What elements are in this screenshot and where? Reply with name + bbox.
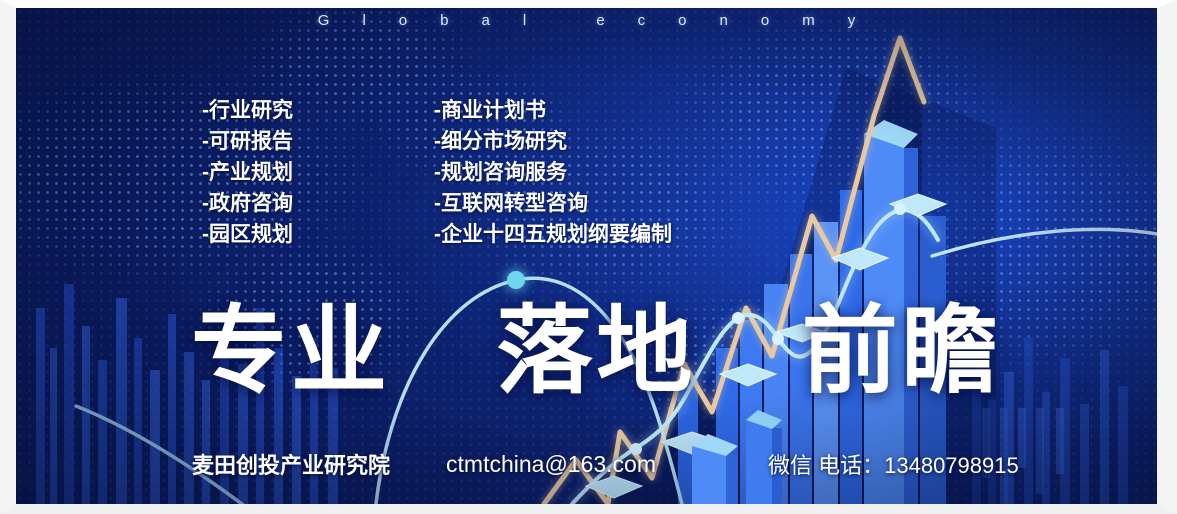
banner-stage: Global economy -行业研究 -可研报告 -产业规划 -政府咨询 -…: [16, 8, 1157, 504]
footer-contact-bar: 麦田创投产业研究院 ctmtchina@163.com 微信 电话：134807…: [192, 448, 1019, 480]
email-address[interactable]: ctmtchina@163.com: [446, 451, 656, 478]
footer-3d-columns-layer: [16, 8, 1157, 504]
organization-name: 麦田创投产业研究院: [192, 448, 390, 480]
phone-contact: 微信 电话：13480798915: [768, 448, 1019, 480]
headline-word-1: 专业: [191, 298, 391, 405]
headline-word-3: 前瞻: [802, 298, 1002, 405]
banner-image: Global economy -行业研究 -可研报告 -产业规划 -政府咨询 -…: [0, 0, 1177, 514]
headline-word-2: 落地: [496, 298, 696, 405]
headline-slogan: 专业 落地 前瞻: [191, 304, 1002, 400]
